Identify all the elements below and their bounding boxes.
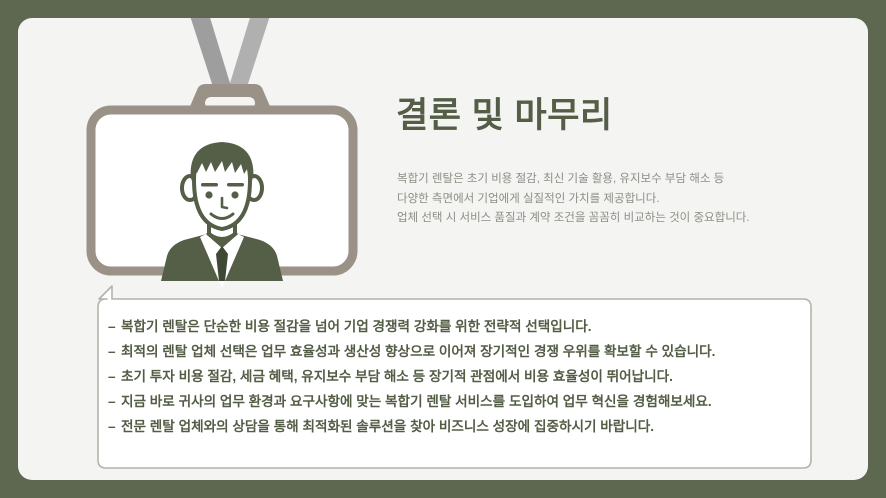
list-item-label: 복합기 렌탈은 단순한 비용 절감을 넘어 기업 경쟁력 강화를 위한 전략적 …: [121, 314, 592, 339]
list-item: – 전문 렌탈 업체와의 상담을 통해 최적화된 솔루션을 찾아 비즈니스 성장…: [108, 414, 808, 439]
intro-line-2: 다양한 측면에서 기업에게 실질적인 가치를 제공합니다.: [397, 190, 867, 210]
list-item-label: 최적의 렌탈 업체 선택은 업무 효율성과 생산성 향상으로 이어져 장기적인 …: [121, 339, 715, 364]
summary-bullet-list: – 복합기 렌탈은 단순한 비용 절감을 넘어 기업 경쟁력 강화를 위한 전략…: [108, 314, 808, 439]
intro-line-1: 복합기 렌탈은 초기 비용 절감, 최신 기술 활용, 유지보수 부담 해소 등: [397, 170, 867, 190]
bullet-marker: –: [108, 339, 121, 364]
list-item-label: 지금 바로 귀사의 업무 환경과 요구사항에 맞는 복합기 렌탈 서비스를 도입…: [121, 389, 712, 414]
list-item: – 초기 투자 비용 절감, 세금 혜택, 유지보수 부담 해소 등 장기적 관…: [108, 364, 808, 389]
list-item: – 지금 바로 귀사의 업무 환경과 요구사항에 맞는 복합기 렌탈 서비스를 …: [108, 389, 808, 414]
lanyard-left-strap: [181, 18, 233, 93]
id-badge-illustration: [73, 18, 373, 268]
list-item-label: 전문 렌탈 업체와의 상담을 통해 최적화된 솔루션을 찾아 비즈니스 성장에 …: [121, 414, 654, 439]
lanyard-right-strap: [227, 18, 279, 93]
bullet-marker: –: [108, 389, 121, 414]
summary-speech-bubble: – 복합기 렌탈은 단순한 비용 절감을 넘어 기업 경쟁력 강화를 위한 전략…: [90, 284, 819, 469]
page-title: 결론 및 마무리: [396, 97, 613, 136]
intro-paragraph: 복합기 렌탈은 초기 비용 절감, 최신 기술 활용, 유지보수 부담 해소 등…: [397, 170, 867, 229]
list-item: – 복합기 렌탈은 단순한 비용 절감을 넘어 기업 경쟁력 강화를 위한 전략…: [108, 314, 808, 339]
slide-panel: 결론 및 마무리 복합기 렌탈은 초기 비용 절감, 최신 기술 활용, 유지보…: [18, 18, 868, 480]
intro-line-3: 업체 선택 시 서비스 품질과 계약 조건을 꼼꼼히 비교하는 것이 중요합니다…: [397, 209, 867, 229]
slide-root: 결론 및 마무리 복합기 렌탈은 초기 비용 절감, 최신 기술 활용, 유지보…: [0, 0, 886, 498]
person-eye-left: [205, 191, 212, 198]
bullet-marker: –: [108, 414, 121, 439]
person-eyebrow-right: [227, 183, 244, 187]
list-item-label: 초기 투자 비용 절감, 세금 혜택, 유지보수 부담 해소 등 장기적 관점에…: [121, 364, 673, 389]
person-eyebrow-left: [201, 183, 218, 187]
person-eye-right: [231, 191, 238, 198]
bullet-marker: –: [108, 364, 121, 389]
list-item: – 최적의 렌탈 업체 선택은 업무 효율성과 생산성 향상으로 이어져 장기적…: [108, 339, 808, 364]
id-badge-icon: [73, 18, 373, 288]
bullet-marker: –: [108, 314, 121, 339]
